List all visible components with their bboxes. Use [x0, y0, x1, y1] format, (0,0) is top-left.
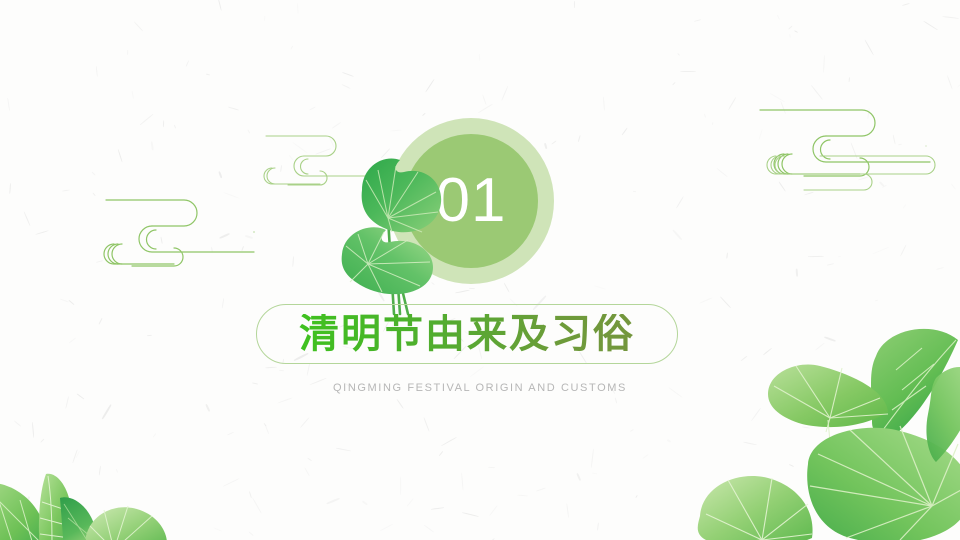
- section-title-pill: 清明节由来及习俗: [256, 304, 678, 364]
- leaf-cluster-center: [322, 146, 452, 316]
- cloud-right-lower-icon: [760, 140, 936, 192]
- section-title-text: 清明节由来及习俗: [299, 314, 635, 354]
- slide-canvas: 01: [0, 0, 960, 540]
- cloud-left-icon: [104, 186, 264, 272]
- leaf-cluster-bottom-right: [690, 338, 960, 540]
- leaf-cluster-bottom-left: [0, 440, 194, 540]
